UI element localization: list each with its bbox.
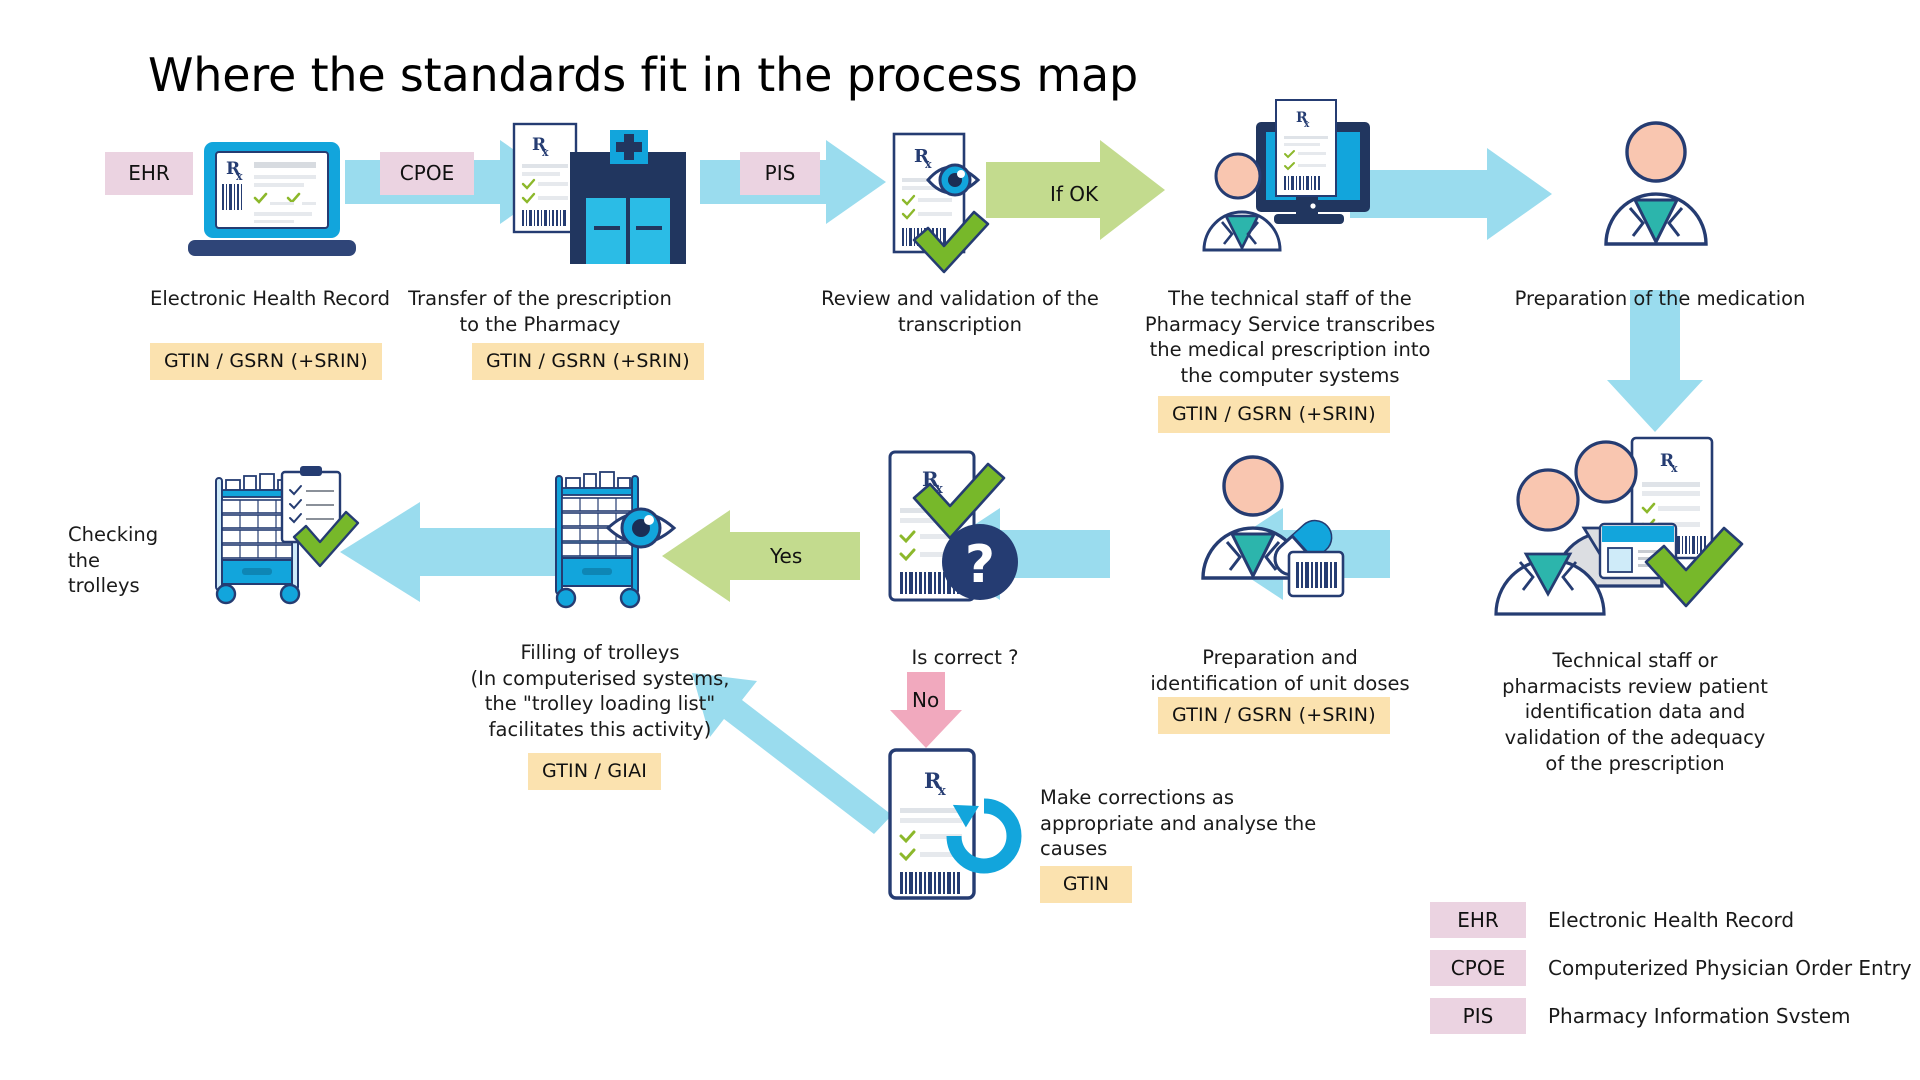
page-title: Where the standards fit in the process m… xyxy=(148,48,1138,102)
caption-filling-of-trolleys: Filling of trolleys (In computerised sys… xyxy=(450,640,750,743)
svg-text:?: ? xyxy=(965,535,995,595)
caption-preparation-of-medication: Preparation of the medication xyxy=(1480,286,1840,312)
standard-transfer-prescription: GTIN / GSRN (+SRIN) xyxy=(472,343,704,380)
chip-cpoe[interactable]: CPOE xyxy=(380,152,474,195)
laptop-prescription-icon: R x xyxy=(182,140,362,265)
caption-preparation-unit-doses: Preparation and identification of unit d… xyxy=(1140,645,1420,696)
svg-text:x: x xyxy=(1671,462,1678,475)
svg-text:x: x xyxy=(236,170,243,183)
legend-chip-cpoe: CPOE xyxy=(1430,950,1526,986)
standard-preparation-unit-doses: GTIN / GSRN (+SRIN) xyxy=(1158,697,1390,734)
legend-chip-pis: PIS xyxy=(1430,998,1526,1034)
prescription-eye-check-icon: R x xyxy=(888,132,1038,272)
chip-pis[interactable]: PIS xyxy=(740,152,820,195)
standard-filling-of-trolleys: GTIN / GIAI xyxy=(528,753,661,790)
caption-technical-staff-transcribes: The technical staff of the Pharmacy Serv… xyxy=(1135,286,1445,389)
arrow-label-no: No xyxy=(912,688,939,712)
staff-patient-id-check-icon: R x xyxy=(1492,436,1752,621)
svg-text:x: x xyxy=(938,784,946,799)
svg-text:x: x xyxy=(1304,120,1310,130)
svg-text:x: x xyxy=(925,158,932,171)
legend-row-cpoe: CPOE Computerized Physician Order Entry xyxy=(1430,948,1912,988)
arrow-technical-staff-to-preparation xyxy=(1350,148,1552,240)
standard-make-corrections: GTIN xyxy=(1040,866,1132,903)
arrow-label-yes: Yes xyxy=(770,544,802,568)
arrow-label-if-ok: If OK xyxy=(1050,182,1098,206)
caption-is-correct: Is correct ? xyxy=(845,645,1085,671)
standard-technical-staff-transcribes: GTIN / GSRN (+SRIN) xyxy=(1158,396,1390,433)
chip-ehr[interactable]: EHR xyxy=(105,152,193,195)
prescription-question-check-icon: R x ? xyxy=(888,450,1038,615)
caption-review-validation: Review and validation of the transcripti… xyxy=(790,286,1130,337)
caption-make-corrections: Make corrections as appropriate and anal… xyxy=(1040,785,1340,862)
process-map-canvas: Where the standards fit in the process m… xyxy=(0,0,1920,1080)
pharmacist-pill-barcode-icon xyxy=(1185,452,1355,602)
legend-row-ehr: EHR Electronic Health Record xyxy=(1430,900,1912,940)
legend-row-pis: PIS Pharmacy Information Svstem xyxy=(1430,996,1912,1036)
svg-text:x: x xyxy=(542,146,549,159)
prescription-refresh-icon: R x xyxy=(888,748,1038,913)
pharmacy-building-icon: R x xyxy=(512,122,692,267)
legend-text-pis: Pharmacy Information Svstem xyxy=(1548,1004,1851,1028)
arrow-is-correct-yes xyxy=(662,510,860,602)
legend: EHR Electronic Health Record CPOE Comput… xyxy=(1430,900,1912,1044)
caption-transfer-prescription: Transfer of the prescription to the Phar… xyxy=(380,286,700,337)
trolley-eye-icon xyxy=(540,470,690,610)
pharmacist-monitor-icon: R x xyxy=(1200,98,1380,258)
standard-electronic-health-record: GTIN / GSRN (+SRIN) xyxy=(150,343,382,380)
legend-text-ehr: Electronic Health Record xyxy=(1548,908,1794,932)
caption-checking-the-trolleys: Checking the trolleys xyxy=(68,522,238,599)
pharmacist-icon xyxy=(1598,118,1714,248)
legend-chip-ehr: EHR xyxy=(1430,902,1526,938)
legend-text-cpoe: Computerized Physician Order Entry xyxy=(1548,956,1912,980)
caption-technical-staff-review: Technical staff or pharmacists review pa… xyxy=(1460,648,1810,777)
